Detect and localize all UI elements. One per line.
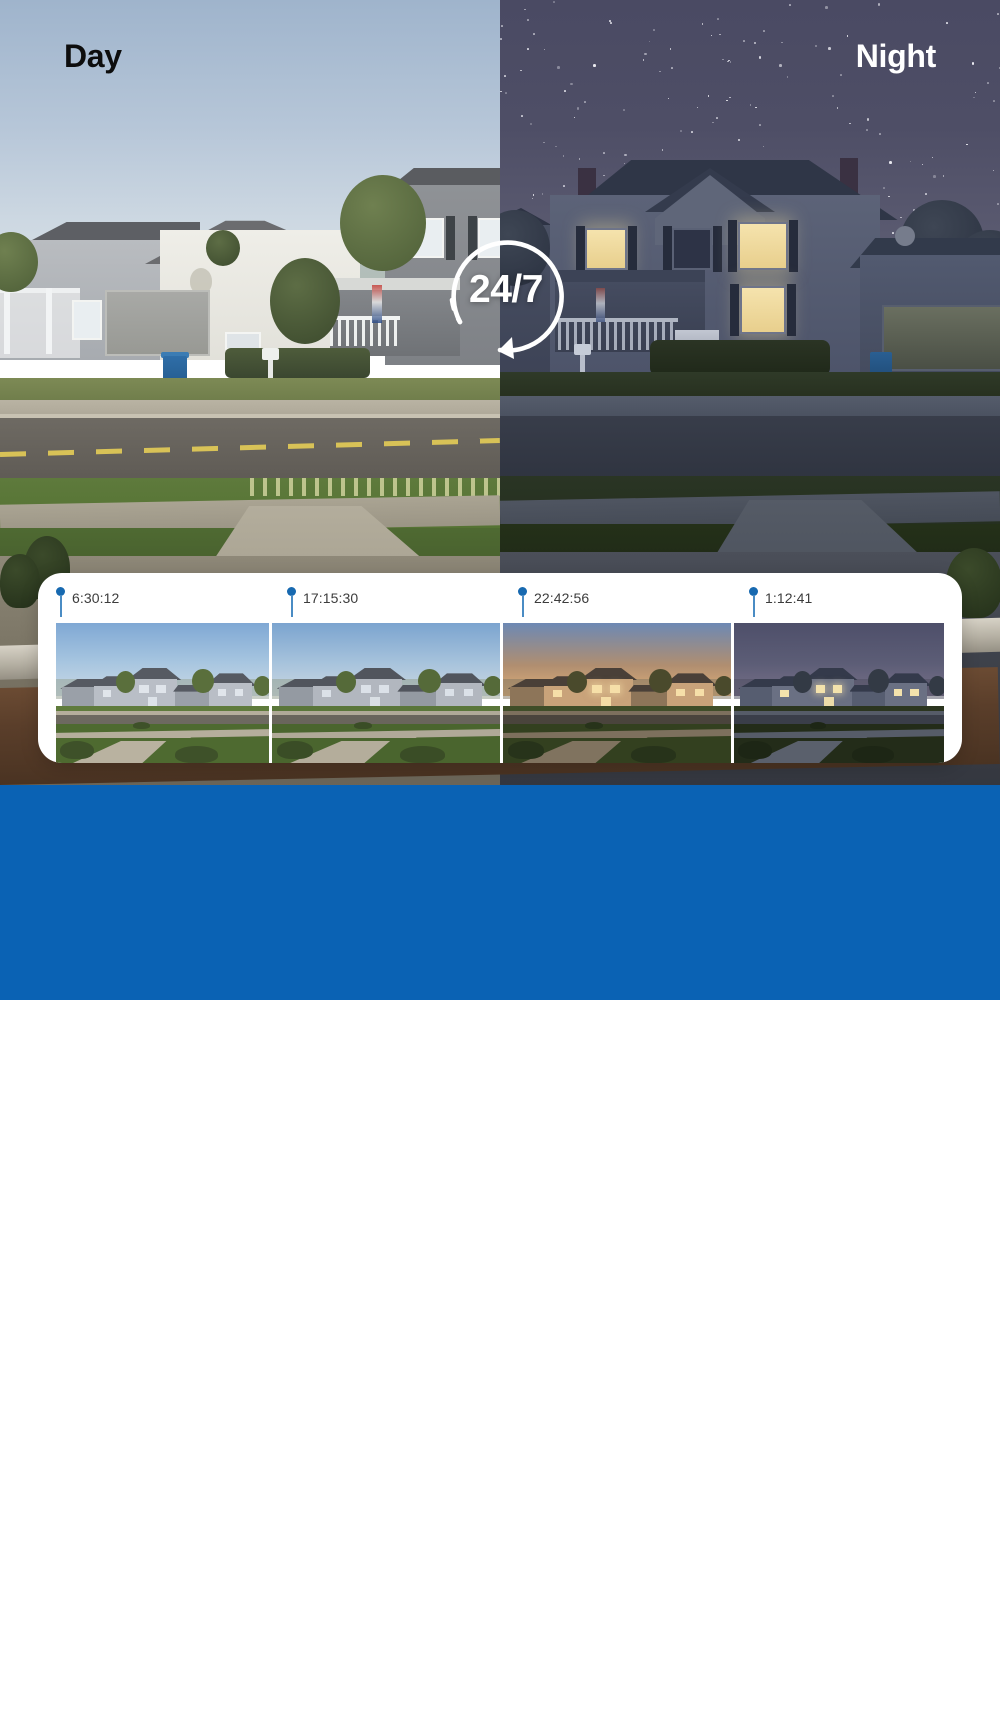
night-flag <box>596 288 605 322</box>
night-road <box>500 416 1000 480</box>
timeline-timestamp: 1:12:41 <box>765 590 812 606</box>
day-window <box>72 300 102 340</box>
timeline-card: 6:30:12 17:15:30 <box>38 573 962 763</box>
map-pin-icon <box>287 587 296 617</box>
thumbnail-scene <box>56 623 269 763</box>
timeline-timestamp: 6:30:12 <box>72 590 119 606</box>
timeline-timestamp: 17:15:30 <box>303 590 358 606</box>
porch-post <box>4 288 10 354</box>
day-mailbox <box>262 348 279 360</box>
day-tree <box>340 175 426 271</box>
night-shutter <box>730 284 739 336</box>
night-shutter <box>663 226 672 272</box>
day-hedge <box>225 348 370 378</box>
map-pin-icon <box>749 587 758 617</box>
night-window <box>672 228 712 270</box>
timeline-item[interactable]: 6:30:12 <box>38 573 269 763</box>
night-shutter <box>728 220 737 272</box>
timeline-thumbnail[interactable] <box>56 623 269 763</box>
day-flag <box>372 285 382 323</box>
night-porch-roof <box>555 270 705 282</box>
night-sidewalk <box>500 396 1000 418</box>
timeline-item-header: 6:30:12 <box>38 573 269 623</box>
timeline-item-header: 22:42:56 <box>500 573 731 623</box>
night-window-lit <box>585 228 627 270</box>
day-tree <box>270 258 340 344</box>
banner-title: 24-Hour Protection <box>66 1607 323 1640</box>
timeline-timestamp: 22:42:56 <box>534 590 589 606</box>
poster-root: Day Night 24/7 6:30:12 <box>0 0 1000 1000</box>
map-pin-icon <box>56 587 65 617</box>
night-shutter <box>789 220 798 272</box>
night-label: Night <box>856 38 936 75</box>
thumbnail-scene <box>272 623 500 763</box>
timeline-item[interactable]: 1:12:41 <box>731 573 962 763</box>
bottom-banner: 24-Hour Protection Capture all activity … <box>0 785 1000 1000</box>
night-window-lit <box>740 286 786 334</box>
badge-24-7: 24/7 <box>438 226 574 366</box>
porch-post <box>46 288 52 354</box>
timeline-item[interactable]: 22:42:56 <box>500 573 731 763</box>
satellite-dish-icon <box>895 226 915 246</box>
timeline-thumbnail[interactable] <box>269 623 500 763</box>
banner-subtitle: Capture all activity day and night, not … <box>66 1658 716 1729</box>
night-hedge <box>650 340 830 376</box>
night-shutter <box>628 226 637 272</box>
day-tree <box>206 230 240 266</box>
timeline-item-header: 1:12:41 <box>731 573 962 623</box>
night-lawn-far <box>500 372 1000 398</box>
timeline-item[interactable]: 17:15:30 <box>269 573 500 763</box>
day-porch-railing <box>330 316 400 346</box>
night-window-lit <box>738 222 788 270</box>
day-garage-door <box>105 290 210 356</box>
tapo-logo: tapo <box>833 1647 960 1705</box>
foreground-plant <box>0 554 40 608</box>
night-shutter <box>713 226 722 272</box>
timeline-thumbnail[interactable] <box>500 623 731 763</box>
map-pin-icon <box>518 587 527 617</box>
night-shutter <box>576 226 585 272</box>
day-flower-bed <box>250 478 500 496</box>
thumbnail-scene <box>503 623 731 763</box>
night-mailbox <box>574 344 591 355</box>
night-garage-door <box>882 305 1000 371</box>
thumbnail-scene <box>734 623 944 763</box>
day-house-left-porch <box>0 288 80 358</box>
timeline-items: 6:30:12 17:15:30 <box>38 573 962 763</box>
day-label: Day <box>64 38 122 75</box>
night-shutter <box>787 284 796 336</box>
timeline-thumbnail[interactable] <box>731 623 944 763</box>
timeline-item-header: 17:15:30 <box>269 573 500 623</box>
badge-label: 24/7 <box>438 270 574 309</box>
